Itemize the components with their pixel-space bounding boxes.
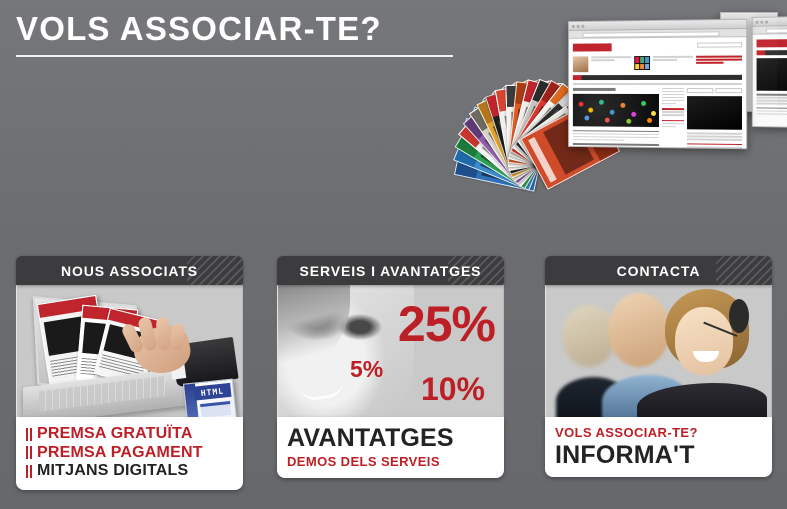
card-row: NOUS ASSOCIATS HTML bbox=[0, 256, 787, 486]
card-header-label: NOUS ASSOCIATS bbox=[61, 263, 198, 279]
page-title: VOLS ASSOCIAR-TE? bbox=[16, 12, 456, 47]
card-footer: PREMSA GRATUÏTA PREMSA PAGAMENT MITJANS … bbox=[16, 417, 243, 490]
percent-value-large: 25% bbox=[398, 299, 495, 349]
header-stripes-icon bbox=[716, 256, 772, 285]
article-photo bbox=[757, 58, 787, 91]
card-media-laptop: HTML bbox=[16, 285, 243, 417]
page-root: VOLS ASSOCIAR-TE? bbox=[0, 0, 787, 509]
card-header: NOUS ASSOCIATS bbox=[16, 256, 243, 285]
list-item-label: PREMSA PAGAMENT bbox=[37, 444, 203, 463]
background-agent-two bbox=[608, 293, 670, 367]
article-photo-balloons bbox=[573, 93, 659, 126]
card-header-label: CONTACTA bbox=[617, 263, 701, 279]
list-item-label: PREMSA GRATUÏTA bbox=[37, 425, 193, 444]
list-item[interactable]: PREMSA PAGAMENT bbox=[26, 444, 233, 463]
card-header: SERVEIS I AVANTATGES bbox=[277, 256, 504, 285]
site-navbar[interactable] bbox=[757, 50, 787, 56]
bullet-icon bbox=[26, 465, 32, 478]
bullet-icon bbox=[26, 428, 32, 441]
percent-value-small: 5% bbox=[350, 358, 383, 381]
list-item[interactable]: PREMSA GRATUÏTA bbox=[26, 425, 233, 444]
browser-window-secondary bbox=[752, 15, 787, 129]
list-item[interactable]: MITJANS DIGITALS bbox=[26, 462, 233, 481]
card-header: CONTACTA bbox=[545, 256, 772, 285]
card-serveis-i-avantatges[interactable]: SERVEIS I AVANTATGES 25% 5% 10% AVANTATG… bbox=[277, 256, 504, 478]
card-footer-title: AVANTATGES bbox=[287, 425, 494, 451]
address-bar[interactable] bbox=[753, 25, 787, 34]
window-content bbox=[569, 38, 746, 148]
site-navbar[interactable] bbox=[573, 75, 742, 80]
percent-value-medium: 10% bbox=[421, 373, 485, 405]
site-logo bbox=[757, 39, 787, 47]
site-logo-whats-news bbox=[573, 43, 612, 51]
agent-face bbox=[675, 307, 733, 375]
window-titlebar bbox=[753, 16, 787, 27]
card-header-label: SERVEIS I AVANTATGES bbox=[300, 263, 482, 279]
card-footer-subtitle: VOLS ASSOCIAR-TE? bbox=[555, 425, 762, 440]
card-footer: AVANTATGES DEMOS DELS SERVEIS bbox=[277, 417, 504, 478]
html-badge-label: HTML bbox=[193, 383, 231, 401]
card-contacta[interactable]: CONTACTA VOLS ASSOCIAR-TE? INFORMA'T bbox=[545, 256, 772, 477]
card-footer-subtitle[interactable]: DEMOS DELS SERVEIS bbox=[287, 454, 494, 469]
window-content bbox=[753, 34, 787, 128]
headset-icon bbox=[729, 299, 749, 333]
address-bar[interactable] bbox=[569, 29, 746, 39]
list-item-label: MITJANS DIGITALS bbox=[37, 462, 188, 481]
browser-window-main[interactable] bbox=[568, 19, 747, 149]
card-nous-associats[interactable]: NOUS ASSOCIATS HTML bbox=[16, 256, 243, 490]
card-footer-title[interactable]: INFORMA'T bbox=[555, 442, 762, 468]
card-footer: VOLS ASSOCIAR-TE? INFORMA'T bbox=[545, 417, 772, 477]
hero-collage bbox=[420, 0, 787, 207]
html-document-icon: HTML bbox=[183, 379, 239, 417]
hand-illustration bbox=[128, 315, 236, 389]
sidebar-photo bbox=[688, 96, 742, 130]
card-media-callcentre bbox=[545, 285, 772, 417]
card-media-portrait: 25% 5% 10% bbox=[277, 285, 504, 417]
title-underline bbox=[16, 55, 453, 57]
page-headline: VOLS ASSOCIAR-TE? bbox=[16, 12, 456, 57]
bullet-icon bbox=[26, 446, 32, 459]
